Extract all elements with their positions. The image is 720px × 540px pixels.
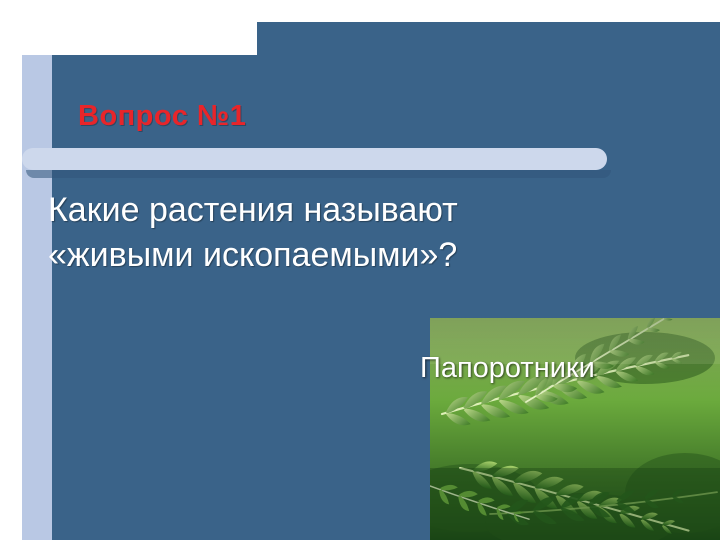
title-underbar-shadow: [26, 170, 611, 178]
title-underbar: [22, 148, 607, 170]
left-lavender-strip: [22, 55, 52, 540]
panel-notch: [52, 22, 257, 55]
answer-label: Папоротники: [420, 352, 595, 385]
left-white-edge: [0, 0, 22, 540]
top-white-edge: [0, 0, 720, 22]
question-text: Какие растения называют «живыми ископаем…: [48, 188, 478, 278]
presentation-slide: Вопрос №1 Какие растения называют «живым…: [0, 0, 720, 540]
slide-title: Вопрос №1: [78, 100, 246, 133]
